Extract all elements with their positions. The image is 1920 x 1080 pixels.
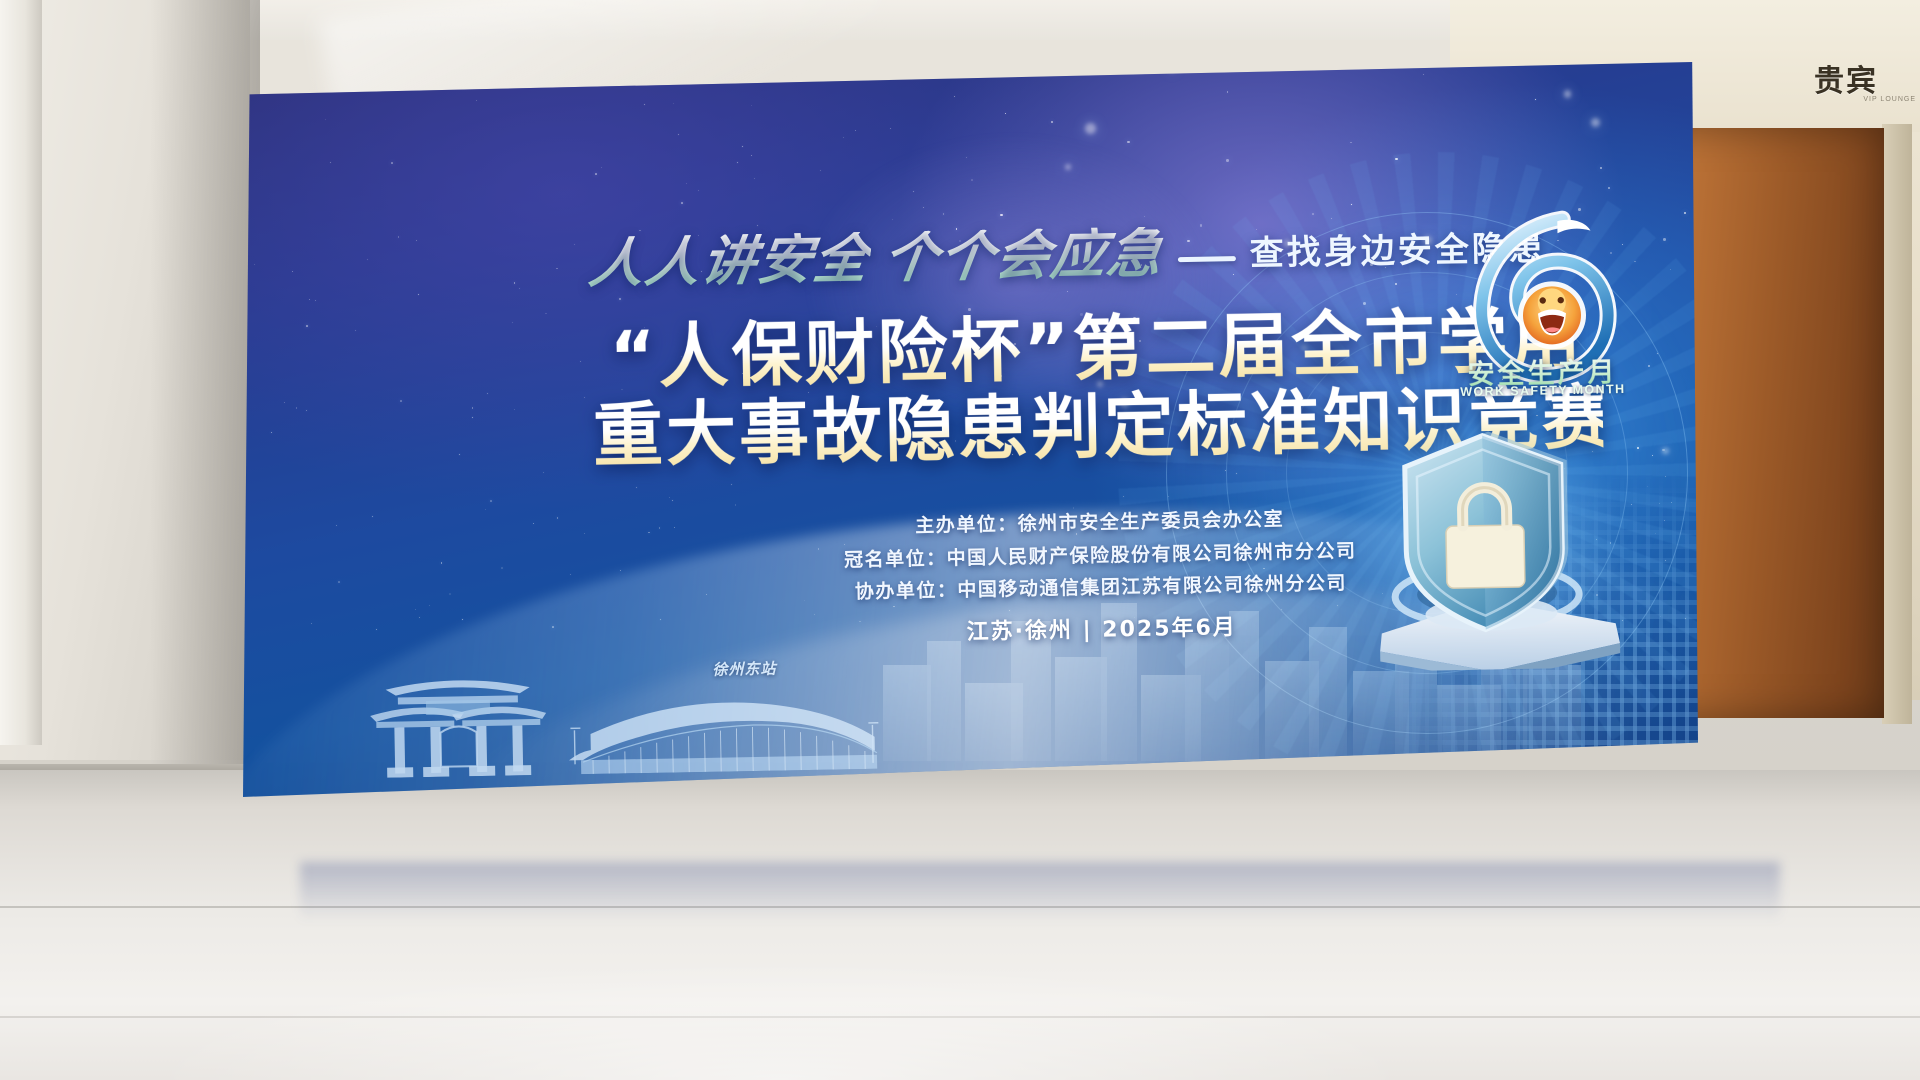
slogan-main-b: 个个会应急 <box>880 226 1168 285</box>
station-name-label: 徐州东站 <box>712 658 776 680</box>
shield-svg <box>1316 397 1651 673</box>
slogan-dash <box>1178 256 1236 262</box>
landmarks-svg <box>367 629 889 779</box>
backdrop-content: 人人讲安全 个个会应急 查找身边安全隐患 “人保财险杯”第二届全市学用 重大事故… <box>243 62 1698 797</box>
vip-wall-sign-sub: VIP LOUNGE <box>1863 96 1916 103</box>
floor-gloss <box>0 770 1920 1080</box>
door-frame <box>1882 124 1912 724</box>
shield-lock-graphic <box>1316 397 1651 673</box>
vip-wall-sign: 贵宾 <box>1810 56 1920 120</box>
wall-shadow <box>150 0 260 770</box>
photo-scene: 贵宾 VIP LOUNGE 人人讲安全 个个会应急 查找 <box>0 0 1920 1080</box>
wall-column <box>0 0 42 745</box>
event-backdrop-board: 人人讲安全 个个会应急 查找身边安全隐患 “人保财险杯”第二届全市学用 重大事故… <box>243 62 1698 797</box>
slogan-main-a: 人人讲安全 <box>586 232 874 291</box>
landmark-illustrations: 徐州东站 <box>367 629 889 779</box>
